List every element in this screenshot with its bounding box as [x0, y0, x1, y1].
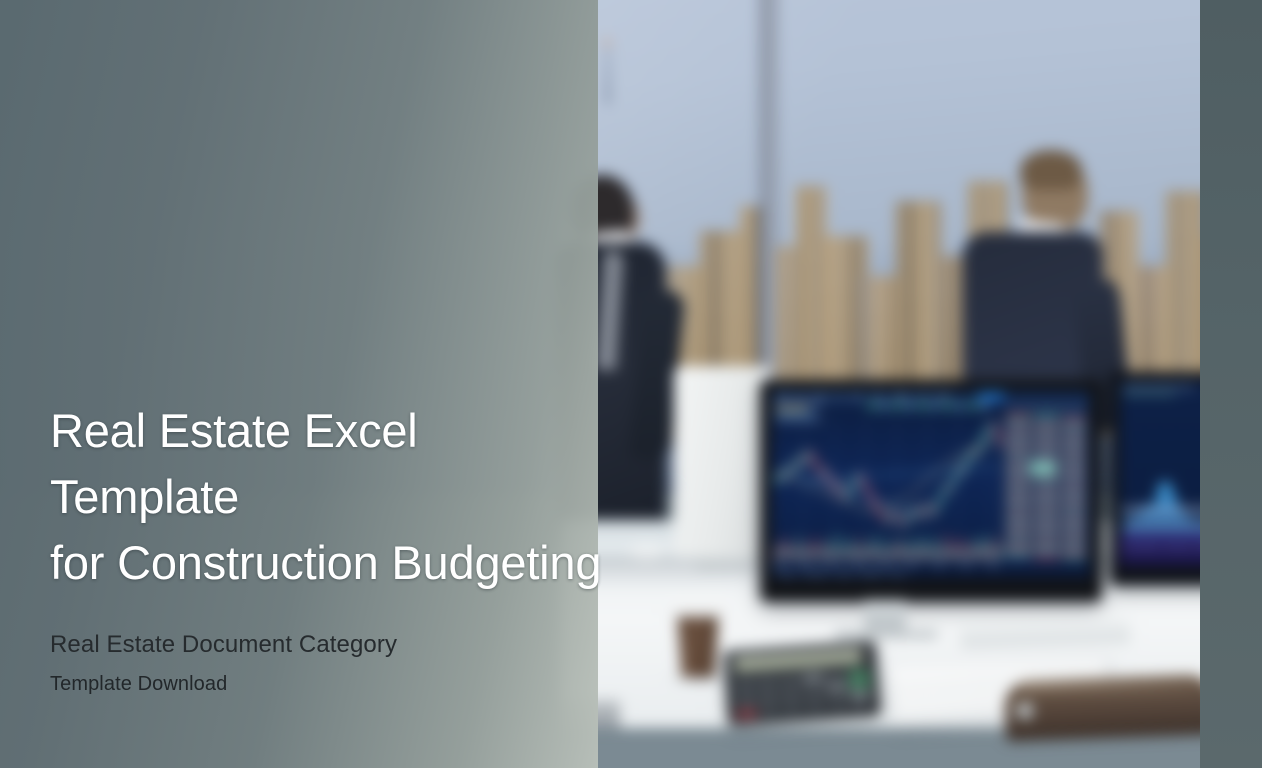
- keyboard-key: [943, 705, 956, 715]
- volume-histogram: [774, 534, 1003, 560]
- volume-bar: [980, 540, 982, 560]
- keyboard-key: [1000, 667, 1013, 677]
- volume-bar: [866, 551, 868, 560]
- keyboard-key: [956, 681, 969, 691]
- volume-bar: [856, 545, 858, 560]
- volume-bar: [781, 538, 783, 560]
- volume-bar: [833, 547, 835, 560]
- volume-bar: [853, 550, 855, 560]
- spire-light-icon: [604, 38, 610, 47]
- monitor-back: [674, 366, 770, 558]
- quote-row: [1006, 426, 1088, 430]
- keyboard-key: [1059, 664, 1072, 674]
- right-overlay-bar: [1200, 0, 1262, 768]
- volume-bar: [813, 542, 815, 560]
- volume-bar: [820, 538, 822, 560]
- volume-bar: [800, 551, 802, 560]
- volume-bar: [892, 547, 894, 560]
- keyboard-key: [942, 682, 955, 692]
- mouse: [628, 544, 666, 560]
- cup-body: [674, 609, 722, 677]
- monitor-foot: [834, 630, 938, 638]
- keyboard-key: [1014, 667, 1027, 677]
- ticker-text: [868, 404, 988, 408]
- volume-bar: [934, 538, 936, 560]
- volume-bar: [941, 545, 943, 560]
- secondary-subheader-text: [1124, 392, 1175, 395]
- volume-bar: [790, 550, 792, 560]
- keyboard-key: [957, 693, 970, 703]
- quote-row: [1006, 507, 1088, 511]
- quote-row: [1006, 431, 1088, 435]
- volume-bar: [911, 551, 913, 560]
- calculator-key: [828, 702, 850, 712]
- quote-row: [1006, 453, 1088, 457]
- quote-row: [1006, 485, 1088, 489]
- volume-bar: [960, 547, 962, 560]
- moving-average-line: [774, 418, 1003, 534]
- calculator-key: [849, 680, 871, 690]
- keyboard-key: [912, 672, 925, 682]
- volume-bar: [817, 552, 819, 560]
- keyboard-key: [971, 680, 984, 690]
- quote-row: [1006, 518, 1088, 522]
- candlestick-series: [774, 418, 1003, 534]
- calculator-key: [782, 706, 804, 716]
- quote-table-header: [1007, 405, 1087, 410]
- volume-bar: [951, 542, 953, 560]
- quote-row: [1006, 496, 1088, 500]
- calculator-key: [759, 707, 781, 717]
- keyboard-key: [1029, 666, 1042, 676]
- volume-bar: [944, 534, 946, 560]
- quote-row: [1006, 437, 1088, 441]
- calculator-key: [779, 674, 801, 684]
- quote-highlight-cell: [1030, 461, 1056, 475]
- keyboard-key: [1044, 665, 1057, 675]
- volume-bar: [898, 541, 900, 560]
- volume-bar: [983, 546, 985, 560]
- calculator-key: [734, 688, 756, 698]
- trading-monitor: [760, 380, 1102, 602]
- keyboard-key: [926, 671, 939, 681]
- calculator-keypad: [734, 669, 872, 718]
- volume-bar: [889, 539, 891, 560]
- volume-bar: [895, 550, 897, 560]
- calculator-key: [758, 697, 780, 707]
- calculator-key: [825, 671, 847, 681]
- volume-bar: [990, 543, 992, 560]
- monitor-back-stand: [696, 556, 752, 570]
- quote-row: [1006, 528, 1088, 532]
- keyboard-key: [942, 693, 955, 703]
- page-title-line-1: Real Estate Excel Template: [50, 398, 610, 530]
- volume-bar: [836, 534, 838, 560]
- volume-bar: [846, 548, 848, 560]
- quote-row: [1006, 491, 1088, 495]
- volume-bar: [803, 546, 805, 560]
- keyboard-key: [928, 694, 941, 704]
- slide-canvas: Real Estate Excel Template for Construct…: [0, 0, 1262, 768]
- volume-bar: [902, 538, 904, 560]
- calculator-key: [848, 669, 870, 679]
- status-bar: [772, 568, 1090, 578]
- quote-row: [1006, 420, 1088, 424]
- volume-bar: [859, 537, 861, 560]
- volume-bar: [957, 537, 959, 560]
- volume-bar: [794, 545, 796, 560]
- quote-row: [1006, 447, 1088, 451]
- quote-row: [1006, 512, 1088, 516]
- keyboard-key: [897, 673, 910, 683]
- monitor-stand: [864, 600, 906, 634]
- keyboard-key: [913, 695, 926, 705]
- volume-bar: [826, 550, 828, 560]
- calculator-display: [734, 649, 863, 673]
- page-title: Real Estate Excel Template for Construct…: [50, 398, 610, 595]
- calculator-key: [736, 709, 758, 719]
- keyboard-key: [958, 704, 971, 714]
- window-mullion: [760, 0, 777, 380]
- volume-bar: [938, 552, 940, 560]
- volume-bar: [954, 550, 956, 560]
- calculator-key: [735, 698, 757, 708]
- title-block: Real Estate Excel Template for Construct…: [50, 398, 610, 696]
- quote-row: [1006, 442, 1088, 446]
- volume-bar: [823, 544, 825, 560]
- keyboard-key: [970, 669, 983, 679]
- volume-bar: [777, 544, 779, 560]
- trading-toolbar: [772, 392, 1090, 402]
- volume-bar: [905, 548, 907, 560]
- calculator-key: [780, 685, 802, 695]
- volume-bar: [839, 553, 841, 560]
- calculator-key: [805, 704, 827, 714]
- volume-bar: [921, 536, 923, 561]
- cup-lid-top: [678, 595, 718, 605]
- volume-bar: [843, 543, 845, 560]
- calculator-key: [803, 683, 825, 693]
- keyboard-key: [912, 683, 925, 693]
- keyboard-key: [898, 684, 911, 694]
- volume-bar: [885, 552, 887, 560]
- volume-bar: [908, 544, 910, 560]
- calculator-key: [756, 676, 778, 686]
- volume-bar: [807, 539, 809, 560]
- volume-bar: [974, 538, 976, 560]
- calculator-key: [827, 692, 849, 702]
- volume-bar: [882, 544, 884, 560]
- page-title-line-2: for Construction Budgeting: [50, 530, 610, 596]
- calculator-key: [850, 701, 872, 711]
- trading-screen: [772, 392, 1090, 578]
- quote-row: [1006, 555, 1088, 559]
- volume-bar: [797, 536, 799, 561]
- volume-bar: [931, 547, 933, 560]
- volume-bar: [977, 549, 979, 560]
- quote-row: [1006, 550, 1088, 554]
- quote-row: [1006, 480, 1088, 484]
- volume-bar: [784, 547, 786, 560]
- quote-table-panel: [1003, 403, 1090, 560]
- quote-row: [1006, 523, 1088, 527]
- calculator-key: [802, 672, 824, 682]
- spire-tower: [606, 44, 609, 104]
- keyboard-key: [985, 668, 998, 678]
- volume-bar: [879, 549, 881, 560]
- volume-bar: [915, 540, 917, 560]
- keyboard-key: [913, 706, 926, 716]
- calculator-key: [757, 686, 779, 696]
- keyboard-key: [1073, 663, 1086, 673]
- quote-row: [1006, 415, 1088, 419]
- volume-bar: [875, 535, 877, 560]
- volume-bar: [774, 547, 776, 560]
- toolbar-active-button: [978, 393, 1004, 400]
- keyboard-key: [898, 696, 911, 706]
- keyboard-key: [1088, 663, 1101, 673]
- keyboard-key: [941, 670, 954, 680]
- volume-bar: [862, 547, 864, 560]
- keyboard-key: [956, 670, 969, 680]
- volume-bar: [924, 550, 926, 560]
- volume-bar: [970, 544, 972, 560]
- calculator: [724, 641, 881, 725]
- volume-bar: [810, 548, 812, 560]
- keyboard-key: [987, 703, 1000, 713]
- volume-bar: [987, 535, 989, 560]
- quote-row: [1006, 545, 1088, 549]
- volume-bar: [996, 538, 998, 560]
- calculator-key: [734, 677, 756, 687]
- keyboard-key: [899, 707, 912, 717]
- calculator-key: [826, 681, 848, 691]
- volume-bar: [787, 541, 789, 560]
- volume-bar: [869, 541, 871, 560]
- keyboard-key: [928, 706, 941, 716]
- hair-right: [1020, 150, 1082, 190]
- page-subtitle: Real Estate Document Category: [50, 631, 610, 659]
- quote-row: [1006, 539, 1088, 543]
- volume-bar: [993, 548, 995, 560]
- volume-bar: [947, 548, 949, 560]
- volume-bar: [830, 541, 832, 560]
- chair-highlight: [1020, 682, 1200, 691]
- keyboard-key: [986, 691, 999, 701]
- secondary-header-text: [1124, 386, 1195, 389]
- coffee-cup: [670, 585, 726, 677]
- chair-knob: [1016, 702, 1034, 720]
- quote-row: [1006, 534, 1088, 538]
- volume-bar: [928, 543, 930, 560]
- calculator-key: [781, 695, 803, 705]
- volume-bar: [872, 546, 874, 560]
- volume-bar: [967, 551, 969, 560]
- volume-bar: [918, 546, 920, 560]
- keyboard-key: [972, 703, 985, 713]
- keyboard-key: [927, 683, 940, 693]
- calculator-key: [850, 690, 872, 700]
- calculator-key: [804, 693, 826, 703]
- quote-row: [1006, 501, 1088, 505]
- volume-bar: [849, 538, 851, 560]
- volume-bar: [1000, 545, 1002, 560]
- volume-bar: [964, 541, 966, 560]
- page-caption: Template Download: [50, 673, 610, 696]
- keyboard-key: [986, 680, 999, 690]
- keyboard-key: [972, 692, 985, 702]
